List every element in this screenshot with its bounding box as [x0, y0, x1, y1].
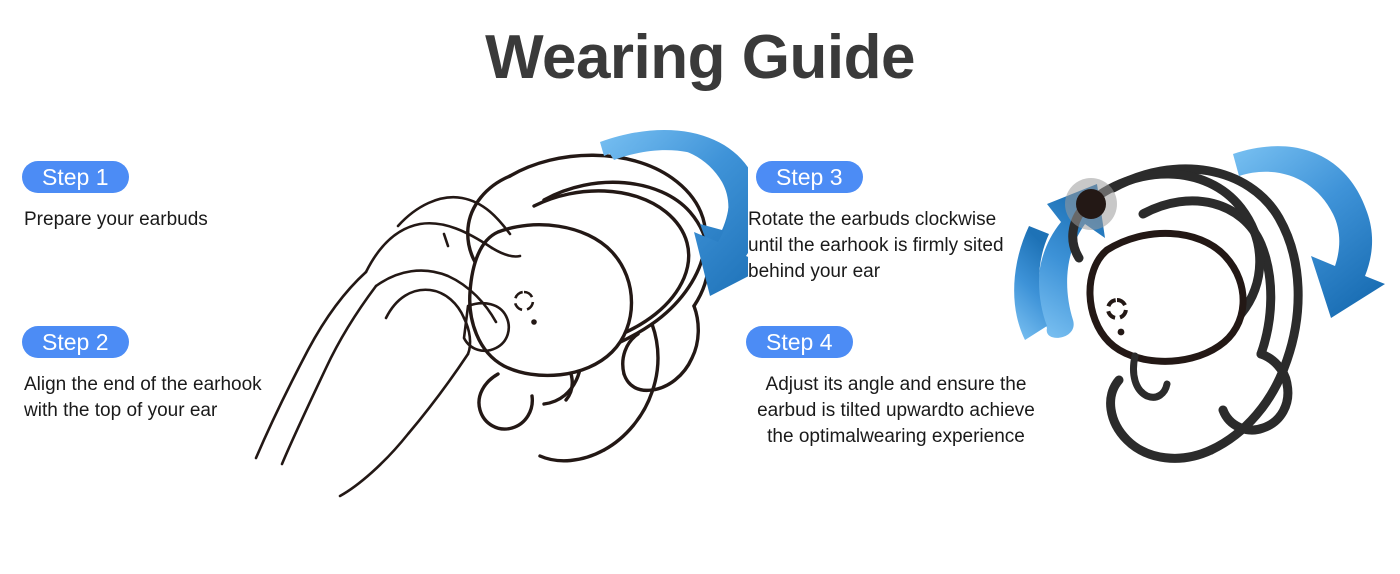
earhook-outline: [544, 182, 709, 390]
earbud-outline: [1090, 233, 1243, 361]
earbud-outline: [470, 225, 632, 376]
rotation-arrow-clockwise-body: [600, 130, 748, 296]
rotation-arrow-clockwise: [602, 134, 748, 272]
step-badge-2: Step 2: [22, 326, 129, 358]
earhook-outline: [1073, 174, 1260, 314]
step-badge-3: Step 3: [756, 161, 863, 193]
step-body-3: Rotate the earbuds clockwise until the e…: [748, 207, 1066, 285]
mic-dot-icon: [531, 319, 537, 325]
step-block-1: Step 1 Prepare your earbuds: [22, 161, 352, 233]
ear-outline: [1111, 169, 1299, 458]
step-block-3: Step 3 Rotate the earbuds clockwise unti…: [746, 161, 1066, 285]
contact-point-marker: [1076, 189, 1106, 219]
contact-point-halo: [1065, 178, 1117, 230]
speaker-grille-icon: [515, 292, 533, 310]
speaker-grille-icon: [1108, 300, 1126, 318]
step-body-2: Align the end of the earhook with the to…: [24, 372, 352, 424]
step-badge-1: Step 1: [22, 161, 129, 193]
step-block-4: Step 4 Adjust its angle and ensure the e…: [736, 326, 1056, 450]
page-title: Wearing Guide: [0, 24, 1400, 92]
mic-dot-icon: [1118, 329, 1125, 336]
arrow-down-right-head: [1233, 146, 1385, 318]
step-body-1: Prepare your earbuds: [24, 207, 352, 233]
step-badge-4: Step 4: [746, 326, 853, 358]
step-body-4: Adjust its angle and ensure the earbud i…: [736, 372, 1056, 450]
ear-outline: [468, 155, 706, 461]
wearing-guide-page: Wearing Guide: [0, 0, 1400, 574]
arrow-down-right: [1235, 150, 1357, 214]
step-block-2: Step 2 Align the end of the earhook with…: [22, 326, 352, 424]
earbud-tip-outline: [1134, 356, 1168, 397]
